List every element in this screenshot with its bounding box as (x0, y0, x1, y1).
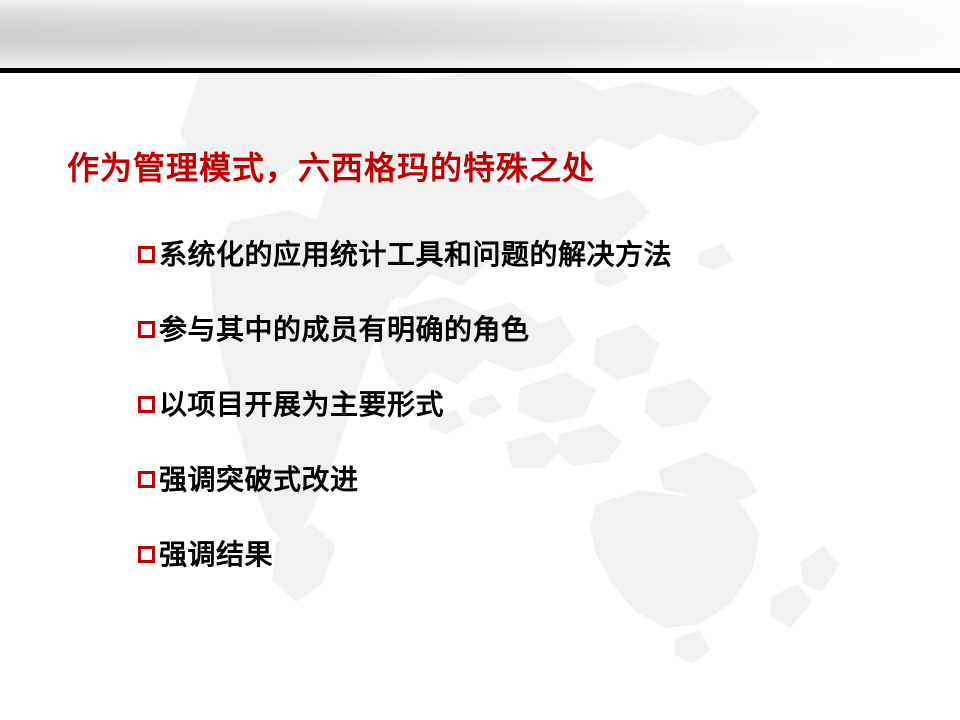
bullet-label: 系统化的应用统计工具和问题的解决方法 (159, 238, 672, 272)
slide-header-banner (0, 0, 960, 68)
slide-content: 作为管理模式，六西格玛的特殊之处 系统化的应用统计工具和问题的解决方法 参与其中… (0, 73, 960, 720)
square-bullet-icon (138, 246, 155, 263)
square-bullet-icon (138, 321, 155, 338)
bullet-label: 强调结果 (159, 538, 273, 572)
header-divider-rule (0, 68, 960, 73)
square-bullet-icon (138, 546, 155, 563)
list-item: 以项目开展为主要形式 (138, 388, 898, 463)
list-item: 强调突破式改进 (138, 463, 898, 538)
list-item: 强调结果 (138, 538, 898, 613)
bullet-label: 以项目开展为主要形式 (159, 388, 444, 422)
section-subtitle: 作为管理模式，六西格玛的特殊之处 (67, 146, 595, 190)
bullet-label: 参与其中的成员有明确的角色 (159, 313, 530, 347)
square-bullet-icon (138, 396, 155, 413)
list-item: 系统化的应用统计工具和问题的解决方法 (138, 238, 898, 313)
square-bullet-icon (138, 471, 155, 488)
list-item: 参与其中的成员有明确的角色 (138, 313, 898, 388)
bullet-label: 强调突破式改进 (159, 463, 359, 497)
bullet-list: 系统化的应用统计工具和问题的解决方法 参与其中的成员有明确的角色 以项目开展为主… (138, 238, 898, 613)
presentation-slide: 六西格玛管理法 作为管理模式，六西格玛的特殊之处 系统化的应用统计工具和问题的解… (0, 0, 960, 720)
